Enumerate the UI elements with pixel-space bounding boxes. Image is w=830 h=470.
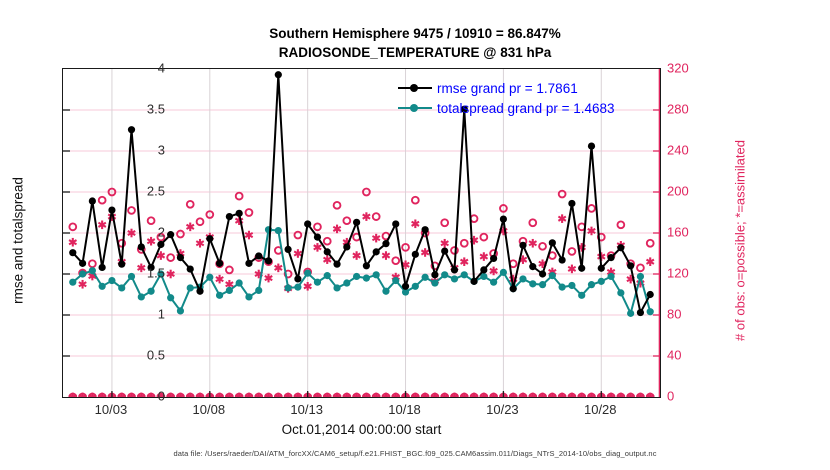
page-title: Southern Hemisphere 9475 / 10910 = 86.84… xyxy=(0,24,830,62)
x-axis-tick: 10/13 xyxy=(267,402,347,417)
legend-marker-rmse xyxy=(398,82,432,94)
legend-marker-totalspread xyxy=(398,102,432,114)
y-axis-tick-left: 2 xyxy=(105,225,165,240)
y-axis-label-left: rmse and totalspread xyxy=(11,141,26,341)
title-line-2: RADIOSONDE_TEMPERATURE @ 831 hPa xyxy=(0,43,830,62)
legend-label-rmse: rmse grand pr = 1.7861 xyxy=(437,81,578,96)
y-axis-tick-right: 0 xyxy=(667,389,727,404)
y-axis-tick-right: 280 xyxy=(667,102,727,117)
y-axis-tick-right: 160 xyxy=(667,225,727,240)
legend-item-totalspread: totalspread grand pr = 1.4683 xyxy=(398,98,615,118)
chart-page: Southern Hemisphere 9475 / 10910 = 86.84… xyxy=(0,0,830,470)
title-line-1: Southern Hemisphere 9475 / 10910 = 86.84… xyxy=(269,26,561,41)
y-axis-tick-left: 2.5 xyxy=(105,184,165,199)
y-axis-tick-right: 80 xyxy=(667,307,727,322)
x-axis-tick: 10/18 xyxy=(365,402,445,417)
y-axis-tick-left: 3.5 xyxy=(105,102,165,117)
y-axis-tick-left: 0.5 xyxy=(105,348,165,363)
y-axis-tick-right: 200 xyxy=(667,184,727,199)
legend-label-totalspread: totalspread grand pr = 1.4683 xyxy=(437,101,615,116)
x-axis-tick: 10/28 xyxy=(560,402,640,417)
x-axis-tick: 10/08 xyxy=(169,402,249,417)
y-axis-tick-right: 240 xyxy=(667,143,727,158)
legend-item-rmse: rmse grand pr = 1.7861 xyxy=(398,78,615,98)
y-axis-label-right: # of obs: o=possible; *=assimilated xyxy=(733,111,748,371)
data-file-footer: data file: /Users/raeder/DAI/ATM_forcXX/… xyxy=(0,449,830,458)
y-axis-tick-right: 120 xyxy=(667,266,727,281)
x-axis-tick: 10/23 xyxy=(462,402,542,417)
y-axis-tick-left: 1 xyxy=(105,307,165,322)
y-axis-tick-left: 4 xyxy=(105,61,165,76)
y-axis-tick-left: 3 xyxy=(105,143,165,158)
y-axis-tick-right: 320 xyxy=(667,61,727,76)
x-axis-label: Oct.01,2014 00:00:00 start xyxy=(62,422,661,437)
legend: rmse grand pr = 1.7861 totalspread grand… xyxy=(398,78,615,118)
y-axis-tick-left: 1.5 xyxy=(105,266,165,281)
x-axis-tick: 10/03 xyxy=(71,402,151,417)
y-axis-tick-right: 40 xyxy=(667,348,727,363)
